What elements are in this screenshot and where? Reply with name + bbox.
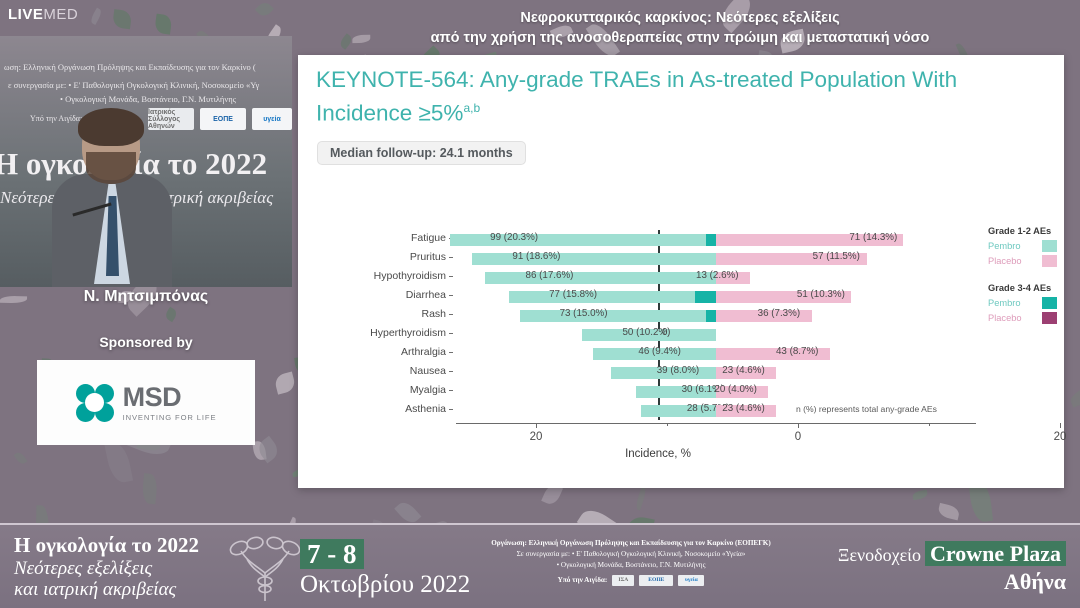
chart-category-label: Arthralgia [316,346,446,358]
chart-row: Myalgia30 (6.1%)20 (4.0%) [316,382,976,401]
bar-segment-grade34 [706,234,716,246]
chart-category-label: Nausea [316,365,446,377]
chart-category-label: Pruritus [316,251,446,263]
speaker-hair [78,108,144,146]
chart-x-axis [456,423,976,424]
sponsor-tagline: INVENTING FOR LIFE [123,414,217,422]
chart-plot-area: Fatigue99 (20.3%)71 (14.3%)Pruritus91 (1… [316,230,976,420]
banner-org-line1: Οργάνωση: Ελληνική Οργάνωση Πρόληψης και… [466,538,796,549]
chart-category-label: Hyperthyroidism [316,327,446,339]
chart-y-tick [449,314,453,315]
chart-x-tick [1060,423,1061,428]
legend-swatch-placebo-g12 [1042,255,1057,267]
chart-category-label: Fatigue [316,232,446,244]
traes-diverging-bar-chart: Grade 1-2 AEs Pembro Placebo Grade 3-4 A… [316,180,1046,470]
banner-title-line1: Η ογκολογία το 2022 [14,533,199,558]
event-banner: Η ογκολογία το 2022 Νεότερες εξελίξεις κ… [0,523,1080,608]
chart-y-tick [449,333,453,334]
presentation-title-line1: Νεφροκυτταρικός καρκίνος: Νεότερες εξελί… [300,8,1060,28]
video-logo-ygeia: υγεία [252,108,292,130]
logo-med-text: MED [43,6,78,23]
banner-org-line3: • Ογκολογική Μονάδα, Βοστάνειο, Γ.Ν. Μυτ… [466,560,796,571]
auspice-logo-ygeia: υγεία [678,575,704,586]
legend-label-placebo-g34: Placebo [988,313,1042,323]
bar-segment-grade12 [472,253,716,265]
bar-value-placebo: 23 (4.6%) [722,365,764,376]
slide-title-footnote-marker: a,b [463,101,480,115]
chart-row: Diarrhea77 (15.8%)51 (10.3%) [316,287,976,306]
banner-title-line2: Νεότερες εξελίξεις [14,558,199,579]
chart-x-tick-label: 0 [795,431,801,443]
legend-group1-title: Grade 1-2 AEs [988,226,1080,236]
bar-value-pembro: 77 (15.8%) [549,289,597,300]
bar-segment-grade12 [485,272,716,284]
msd-clover-icon [76,384,114,422]
chart-x-tick-label: 20 [1054,431,1067,443]
banner-organizers: Οργάνωση: Ελληνική Οργάνωση Πρόληψης και… [466,538,796,586]
banner-event-title: Η ογκολογία το 2022 Νεότερες εξελίξεις κ… [14,533,199,600]
auspice-logo-eope: ΕΟΠΕ [639,575,673,586]
bar-value-placebo: 71 (14.3%) [849,232,897,243]
leaf-decoration [142,473,158,504]
banner-title-line3: και ιατρική ακριβείας [14,579,199,600]
legend-swatch-pembro-g12 [1042,240,1057,252]
speaker-figure [52,112,172,287]
chart-row: Fatigue99 (20.3%)71 (14.3%) [316,230,976,249]
sponsor-name: MSD [123,383,217,411]
chart-category-label: Rash [316,308,446,320]
chart-category-label: Myalgia [316,384,446,396]
chart-y-tick [449,295,453,296]
banner-org-line4: Υπό την Αιγίδα: [558,575,608,586]
leaf-decoration [164,307,179,323]
chart-footnote: n (%) represents total any-grade AEs [796,404,937,414]
chart-bar-zone: 91 (18.6%)57 (11.5%) [456,249,976,268]
banner-org-line2: Σε συνεργασία με: • Ε' Παθολογική Ογκολο… [466,549,796,560]
dna-tree-icon [225,535,305,601]
sponsored-by-label: Sponsored by [0,334,292,350]
legend-item-pembro-g12: Pembro [988,240,1080,252]
chart-y-tick [449,352,453,353]
chart-row: Pruritus91 (18.6%)57 (11.5%) [316,249,976,268]
leaf-decoration [394,498,421,525]
chart-x-tick [798,423,799,428]
chart-category-label: Diarrhea [316,289,446,301]
bar-pembro [485,272,716,284]
bar-value-placebo: 43 (8.7%) [776,346,818,357]
bar-value-pembro: 73 (15.0%) [560,308,608,319]
chart-category-label: Hypothyroidism [316,270,446,282]
chart-y-tick [449,409,453,410]
leaf-decoration [274,372,297,394]
speaker-video[interactable]: ωση: Ελληνική Οργάνωση Πρόληψης και Εκπα… [0,36,292,287]
chart-x-tick-minor [667,423,668,426]
chart-bar-zone: 30 (6.1%)20 (4.0%) [456,382,976,401]
slide-title: KEYNOTE-564: Any-grade TRAEs in As-treat… [316,65,1016,128]
legend-item-pembro-g34: Pembro [988,297,1080,309]
bar-value-placebo: 36 (7.3%) [758,308,800,319]
venue-city: Αθήνα [838,569,1066,595]
chart-row: Hyperthyroidism50 (10.2%)0 [316,325,976,344]
video-slide-line1: ωση: Ελληνική Οργάνωση Πρόληψης και Εκπα… [4,62,256,72]
chart-bar-zone: 73 (15.0%)36 (7.3%) [456,306,976,325]
chart-bar-zone: 99 (20.3%)71 (14.3%) [456,230,976,249]
chart-x-axis-label: Incidence, % [625,448,691,460]
legend-swatch-placebo-g34 [1042,312,1057,324]
presentation-title: Νεφροκυτταρικός καρκίνος: Νεότερες εξελί… [300,8,1060,48]
legend-swatch-pembro-g34 [1042,297,1057,309]
chart-row: Rash73 (15.0%)36 (7.3%) [316,306,976,325]
chart-category-label: Asthenia [316,403,446,415]
speaker-beard [86,152,136,184]
bar-value-pembro: 46 (9.4%) [638,346,680,357]
auspice-logo-isa: ΙΣΑ [612,575,634,586]
bar-segment-grade34 [706,310,716,322]
chart-row: Hypothyroidism86 (17.6%)13 (2.6%) [316,268,976,287]
leaf-decoration [13,450,27,465]
video-slide-line2: ε συνεργασία με: • Ε' Παθολογική Ογκολογ… [8,80,259,90]
banner-date-month: Οκτωβρίου 2022 [300,571,470,599]
chart-y-tick [449,390,453,391]
banner-date-day: 7 - 8 [300,539,364,569]
legend-group2-title: Grade 3-4 AEs [988,283,1080,293]
bar-pembro [472,253,716,265]
video-logo-eope: ΕΟΠΕ [200,108,246,130]
livemed-logo: LIVEMED [8,6,78,23]
bar-value-pembro: 91 (18.6%) [512,251,560,262]
sponsor-logo: MSD INVENTING FOR LIFE [37,360,255,445]
leaf-decoration [1068,379,1080,408]
chart-y-tick [449,257,453,258]
banner-date: 7 - 8 Οκτωβρίου 2022 [300,539,470,599]
leaf-decoration [104,440,133,485]
chart-x-tick [536,423,537,428]
chart-y-tick [449,371,453,372]
leaf-decoration [937,502,960,520]
speaker-name-label: Ν. Μητσιμπόνας [0,288,292,306]
bar-value-pembro: 86 (17.6%) [526,270,574,281]
leaf-decoration [635,486,648,511]
chart-y-tick [449,276,453,277]
chart-legend: Grade 1-2 AEs Pembro Placebo Grade 3-4 A… [988,226,1080,327]
chart-bar-zone: 46 (9.4%)43 (8.7%) [456,344,976,363]
chart-bar-zone: 39 (8.0%)23 (4.6%) [456,363,976,382]
logo-live-text: LIVE [8,6,43,23]
video-slide-line3: • Ογκολογική Μονάδα, Βοστάνειο, Γ.Ν. Μυτ… [60,94,236,104]
legend-item-placebo-g12: Placebo [988,255,1080,267]
leaf-decoration [912,490,928,500]
bar-value-placebo: 20 (4.0%) [714,384,756,395]
bar-value-placebo: 13 (2.6%) [696,270,738,281]
banner-venue: Ξενοδοχείο Crowne Plaza Αθήνα [838,541,1066,595]
bar-pembro [509,291,716,303]
bar-segment-grade12 [509,291,716,303]
bar-value-pembro: 39 (8.0%) [657,365,699,376]
legend-item-placebo-g34: Placebo [988,312,1080,324]
bar-pembro [520,310,717,322]
bar-value-placebo: 23 (4.6%) [722,403,764,414]
bar-segment-grade34 [695,291,716,303]
chart-row: Nausea39 (8.0%)23 (4.6%) [316,363,976,382]
legend-label-pembro: Pembro [988,241,1042,251]
bar-value-placebo: 0 [662,327,667,338]
chart-bar-zone: 50 (10.2%)0 [456,325,976,344]
chart-x-tick-label: 20 [530,431,543,443]
chart-bar-zone: 77 (15.8%)51 (10.3%) [456,287,976,306]
venue-label: Ξενοδοχείο [838,545,921,565]
bar-value-placebo: 51 (10.3%) [797,289,845,300]
bar-value-placebo: 57 (11.5%) [813,251,860,262]
bar-value-pembro: 99 (20.3%) [490,232,538,243]
median-followup-badge: Median follow-up: 24.1 months [317,141,526,165]
presentation-slide: KEYNOTE-564: Any-grade TRAEs in As-treat… [298,55,1064,488]
presentation-title-line2: από την χρήση της ανοσοθεραπείας στην πρ… [300,28,1060,48]
slide-title-text: KEYNOTE-564: Any-grade TRAEs in As-treat… [316,67,957,126]
chart-x-tick-minor [929,423,930,426]
chart-bar-zone: 86 (17.6%)13 (2.6%) [456,268,976,287]
venue-name: Crowne Plaza [925,541,1066,566]
chart-row: Arthralgia46 (9.4%)43 (8.7%) [316,344,976,363]
legend-label-pembro-g34: Pembro [988,298,1042,308]
bar-segment-grade12 [520,310,717,322]
legend-label-placebo: Placebo [988,256,1042,266]
